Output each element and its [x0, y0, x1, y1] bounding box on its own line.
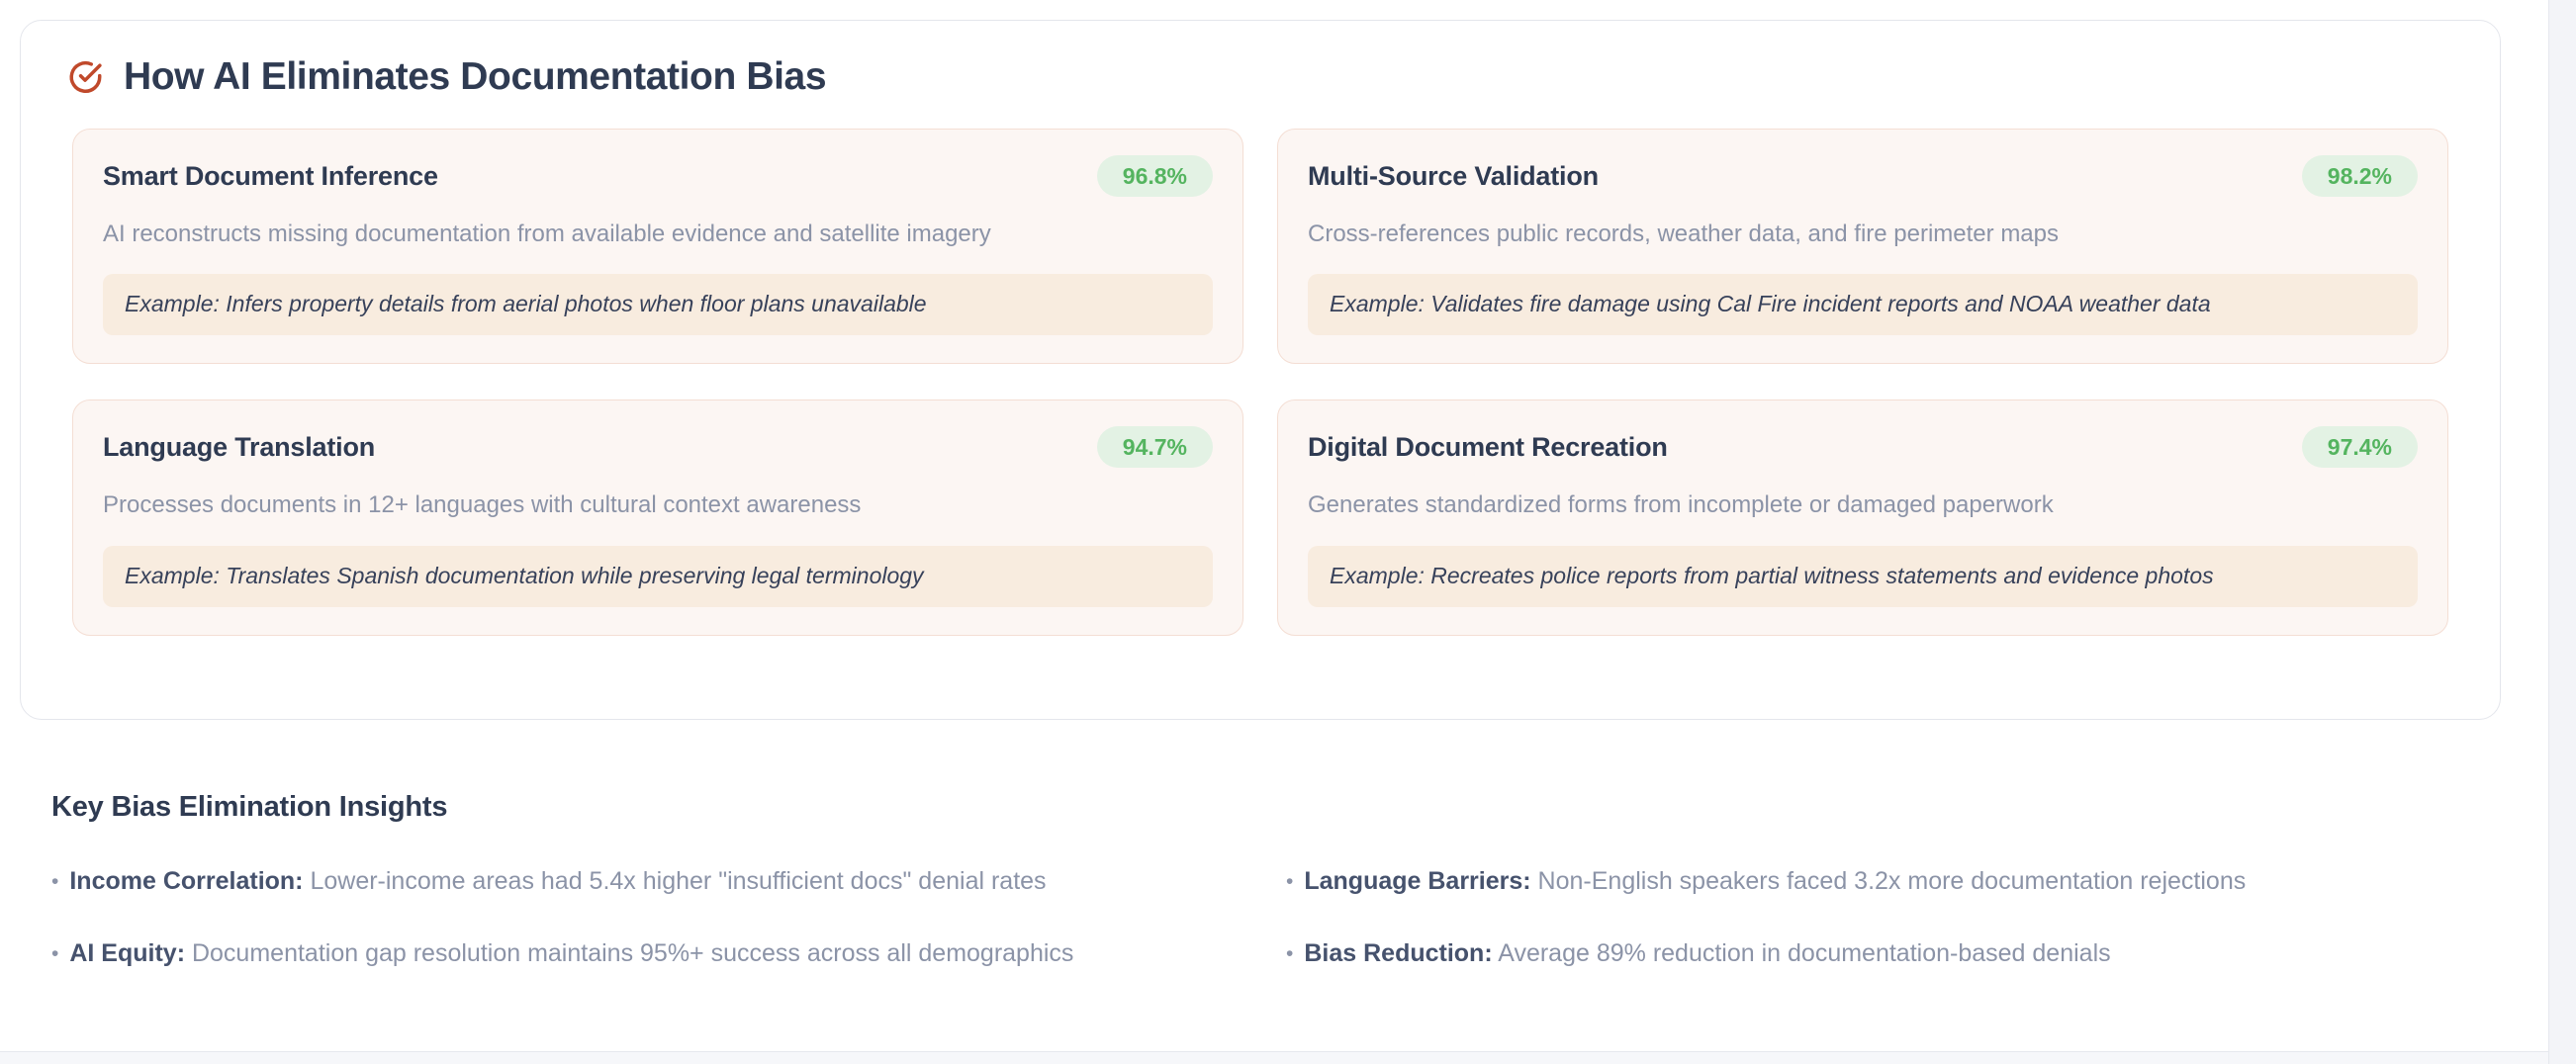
feature-card[interactable]: Language Translation 94.7% Processes doc…: [72, 399, 1243, 635]
accuracy-badge: 96.8%: [1097, 155, 1213, 197]
vertical-scrollbar[interactable]: [2548, 0, 2576, 1064]
feature-card-title: Multi-Source Validation: [1308, 160, 1599, 192]
feature-card-description: AI reconstructs missing documentation fr…: [103, 219, 1213, 250]
feature-card-grid: Smart Document Inference 96.8% AI recons…: [21, 99, 2500, 636]
feature-card-description: Cross-references public records, weather…: [1308, 219, 2418, 250]
insight-label: Income Correlation:: [69, 867, 303, 895]
insight-body: AI Equity: Documentation gap resolution …: [69, 938, 1073, 969]
insight-label: Bias Reduction:: [1304, 939, 1492, 967]
feature-card-title: Digital Document Recreation: [1308, 431, 1668, 463]
page-title: How AI Eliminates Documentation Bias: [124, 56, 826, 99]
feature-card-example: Example: Validates fire damage using Cal…: [1308, 274, 2418, 335]
accuracy-badge: 98.2%: [2302, 155, 2418, 197]
page-content: How AI Eliminates Documentation Bias Sma…: [0, 0, 2548, 1064]
insight-item: • AI Equity: Documentation gap resolutio…: [51, 926, 1250, 998]
insights-grid: • Income Correlation: Lower-income areas…: [51, 853, 2485, 999]
bullet-icon: •: [51, 871, 58, 892]
check-circle-icon: [66, 58, 104, 96]
feature-card-title: Smart Document Inference: [103, 160, 438, 192]
bullet-icon: •: [1286, 943, 1293, 964]
feature-card-header: Smart Document Inference 96.8%: [103, 155, 1213, 197]
feature-card-example: Example: Recreates police reports from p…: [1308, 546, 2418, 607]
screen-root: How AI Eliminates Documentation Bias Sma…: [0, 0, 2576, 1064]
insights-title: Key Bias Elimination Insights: [51, 791, 2485, 824]
insight-detail: Lower-income areas had 5.4x higher "insu…: [304, 867, 1047, 895]
feature-card-title: Language Translation: [103, 431, 375, 463]
feature-card-header: Digital Document Recreation 97.4%: [1308, 426, 2418, 468]
feature-card-example: Example: Infers property details from ae…: [103, 274, 1213, 335]
feature-card-example: Example: Translates Spanish documentatio…: [103, 546, 1213, 607]
insight-item: • Language Barriers: Non-English speaker…: [1286, 853, 2485, 926]
feature-card-header: Language Translation 94.7%: [103, 426, 1213, 468]
insight-item: • Income Correlation: Lower-income areas…: [51, 853, 1250, 926]
footer-strip: [0, 1052, 2548, 1064]
feature-card[interactable]: Multi-Source Validation 98.2% Cross-refe…: [1277, 129, 2448, 364]
insight-body: Income Correlation: Lower-income areas h…: [69, 866, 1046, 897]
bullet-icon: •: [1286, 871, 1293, 892]
insight-detail: Documentation gap resolution maintains 9…: [185, 939, 1073, 967]
panel-header: How AI Eliminates Documentation Bias: [21, 21, 2500, 99]
key-insights-section: Key Bias Elimination Insights • Income C…: [51, 791, 2485, 999]
accuracy-badge: 97.4%: [2302, 426, 2418, 468]
insight-detail: Average 89% reduction in documentation-b…: [1493, 939, 2111, 967]
feature-card[interactable]: Smart Document Inference 96.8% AI recons…: [72, 129, 1243, 364]
insight-detail: Non-English speakers faced 3.2x more doc…: [1531, 867, 2247, 895]
feature-card-description: Generates standardized forms from incomp…: [1308, 489, 2418, 521]
accuracy-badge: 94.7%: [1097, 426, 1213, 468]
bullet-icon: •: [51, 943, 58, 964]
feature-card-header: Multi-Source Validation 98.2%: [1308, 155, 2418, 197]
documentation-bias-panel: How AI Eliminates Documentation Bias Sma…: [20, 20, 2501, 720]
insight-item: • Bias Reduction: Average 89% reduction …: [1286, 926, 2485, 998]
feature-card[interactable]: Digital Document Recreation 97.4% Genera…: [1277, 399, 2448, 635]
insight-body: Language Barriers: Non-English speakers …: [1304, 866, 2246, 897]
insight-body: Bias Reduction: Average 89% reduction in…: [1304, 938, 2110, 969]
feature-card-description: Processes documents in 12+ languages wit…: [103, 489, 1213, 521]
insight-label: Language Barriers:: [1304, 867, 1530, 895]
insight-label: AI Equity:: [69, 939, 185, 967]
